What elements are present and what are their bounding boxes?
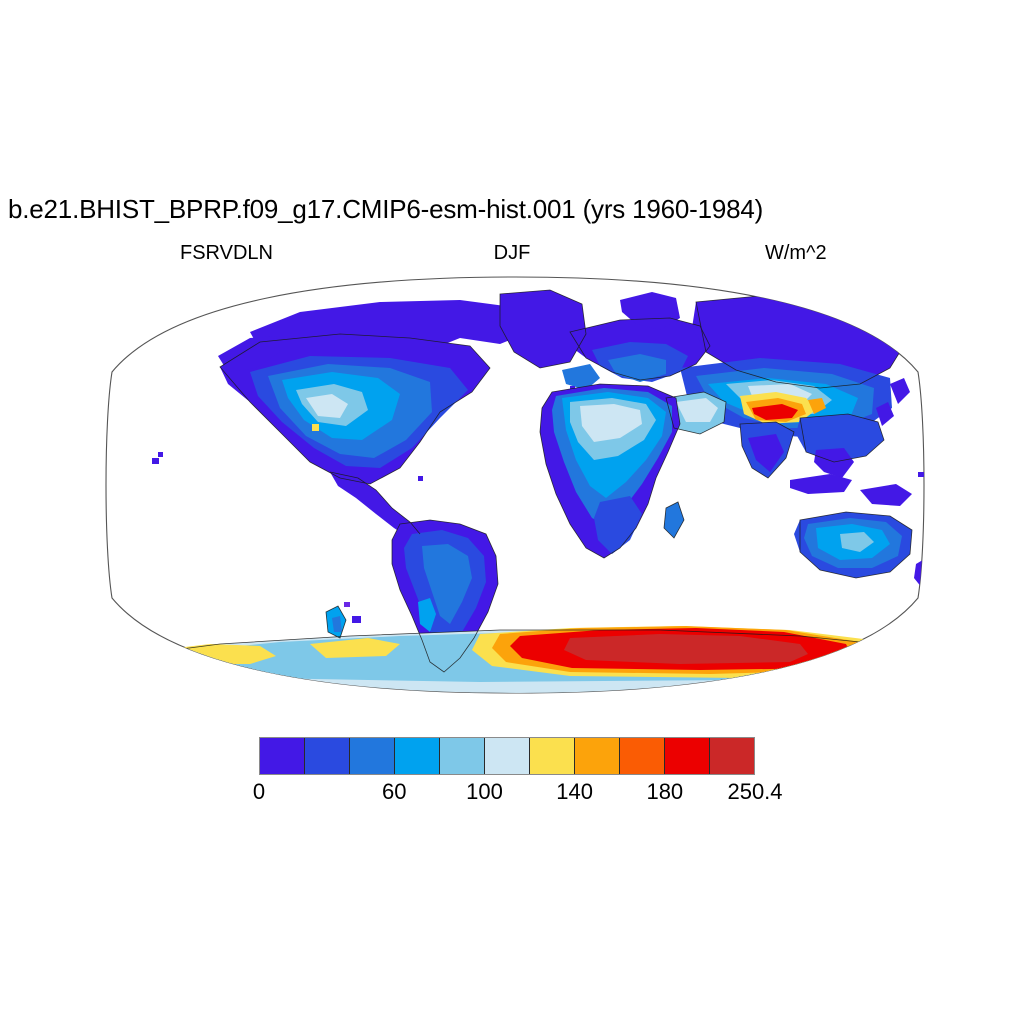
- season-label: DJF: [0, 242, 1024, 265]
- colorbar-tick-60: 60: [382, 779, 406, 805]
- colorbar-tick-140: 140: [556, 779, 593, 805]
- colorbar-cell-7: [575, 738, 620, 774]
- colorbar-tick-0: 0: [253, 779, 265, 805]
- colorbar-cell-3: [395, 738, 440, 774]
- colorbar-cell-1: [305, 738, 350, 774]
- colorbar-tick-100: 100: [466, 779, 503, 805]
- colorbar-cell-9: [665, 738, 710, 774]
- colorbar-cell-2: [350, 738, 395, 774]
- colorbar-cell-10: [710, 738, 754, 774]
- colorbar-cell-0: [260, 738, 305, 774]
- figure-canvas: b.e21.BHIST_BPRP.f09_g17.CMIP6-esm-hist.…: [0, 0, 1024, 1024]
- colorbar-cell-5: [485, 738, 530, 774]
- page-title: b.e21.BHIST_BPRP.f09_g17.CMIP6-esm-hist.…: [8, 194, 1016, 224]
- colorbar-tick-labels: 060100140180250.4: [0, 779, 1024, 807]
- colorbar: [259, 737, 755, 775]
- colorbar-tick-180: 180: [646, 779, 683, 805]
- subtitle-row: FSRVDLN DJF W/m^2: [0, 242, 1024, 268]
- map-panel: [100, 272, 930, 698]
- colorbar-cell-8: [620, 738, 665, 774]
- colorbar-cell-6: [530, 738, 575, 774]
- colorbar-tick-250.4: 250.4: [727, 779, 782, 805]
- world-map: [100, 272, 930, 698]
- units-label: W/m^2: [765, 242, 827, 265]
- colorbar-cell-4: [440, 738, 485, 774]
